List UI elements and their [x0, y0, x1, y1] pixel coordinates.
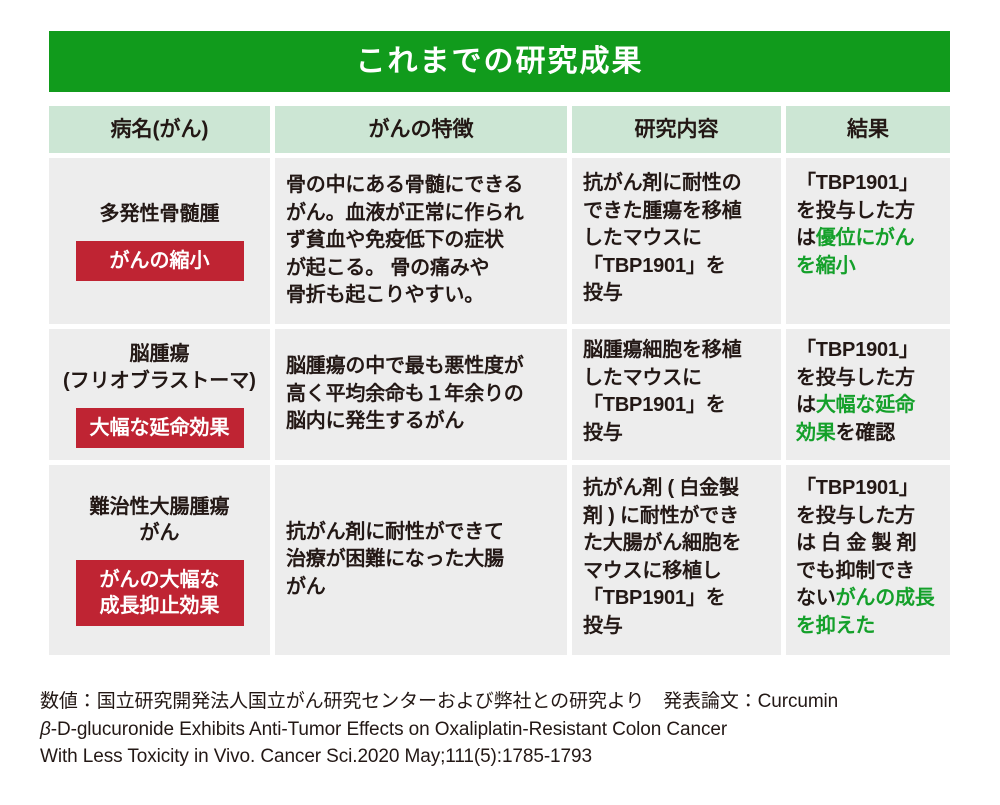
- status-badge: 大幅な延命効果: [76, 408, 244, 448]
- result-highlight: 効果: [796, 422, 836, 444]
- disease-name: 脳腫瘍 (フリオブラストーマ): [63, 341, 256, 394]
- footnote: 数値：国立研究開発法人国立がん研究センターおよび弊社との研究より 発表論文：Cu…: [40, 688, 970, 771]
- footnote-line-1: 数値：国立研究開発法人国立がん研究センターおよび弊社との研究より 発表論文：Cu…: [40, 688, 970, 716]
- column-header-study: 研究内容: [572, 106, 781, 153]
- disease-name: 多発性骨髄腫: [100, 201, 220, 227]
- column-header-feature: がんの特徴: [275, 106, 567, 153]
- result-highlight: を抑えた: [796, 615, 875, 637]
- study-text: 脳腫瘍細胞を移植 したマウスに 「TBP1901」を 投与: [583, 337, 741, 447]
- disease-cell: 脳腫瘍 (フリオブラストーマ) 大幅な延命効果: [49, 329, 270, 460]
- result-highlight: がんの成長: [836, 587, 935, 609]
- page-title-banner: これまでの研究成果: [49, 31, 950, 92]
- feature-text: 脳腫瘍の中で最も悪性度が 高く平均余命も１年余りの 脳内に発生するがん: [286, 353, 524, 436]
- result-text: 「TBP1901」 を投与した方 は優位にがん を縮小: [796, 170, 919, 280]
- result-cell: 「TBP1901」 を投与した方 は大幅な延命 効果を確認: [786, 329, 950, 460]
- study-text: 抗がん剤 ( 白金製 剤 ) に耐性ができ た大腸がん細胞を マウスに移植し 「…: [583, 475, 741, 641]
- status-badge: がんの縮小: [76, 241, 244, 281]
- table-row: 多発性骨髄腫 がんの縮小 骨の中にある骨髄にできる がん。血液が正常に作られ ず…: [49, 158, 950, 324]
- table-row: 難治性大腸腫瘍 がん がんの大幅な 成長抑止効果 抗がん剤に耐性ができて 治療が…: [49, 465, 950, 655]
- feature-cell: 脳腫瘍の中で最も悪性度が 高く平均余命も１年余りの 脳内に発生するがん: [275, 329, 567, 460]
- study-cell: 抗がん剤に耐性の できた腫瘍を移植 したマウスに 「TBP1901」を 投与: [572, 158, 781, 324]
- page-title: これまでの研究成果: [356, 47, 644, 77]
- table-header-row: 病名(がん) がんの特徴 研究内容 結果: [49, 106, 950, 153]
- study-cell: 脳腫瘍細胞を移植 したマウスに 「TBP1901」を 投与: [572, 329, 781, 460]
- slide-page: これまでの研究成果 病名(がん) がんの特徴 研究内容 結果 多発性骨髄腫: [0, 0, 1000, 805]
- table-row: 脳腫瘍 (フリオブラストーマ) 大幅な延命効果 脳腫瘍の中で最も悪性度が 高く平…: [49, 329, 950, 460]
- result-text: 「TBP1901」 を投与した方 は 白 金 製 剤 でも抑制でき ないがんの成…: [796, 475, 935, 641]
- feature-text: 抗がん剤に耐性ができて 治療が困難になった大腸 がん: [286, 519, 504, 602]
- result-highlight: 大幅な延命: [816, 394, 915, 416]
- disease-cell: 難治性大腸腫瘍 がん がんの大幅な 成長抑止効果: [49, 465, 270, 655]
- result-cell: 「TBP1901」 を投与した方 は 白 金 製 剤 でも抑制でき ないがんの成…: [786, 465, 950, 655]
- disease-name: 難治性大腸腫瘍 がん: [90, 494, 230, 547]
- status-badge: がんの大幅な 成長抑止効果: [76, 560, 244, 626]
- footnote-line-2: β-D-glucuronide Exhibits Anti-Tumor Effe…: [40, 716, 970, 744]
- column-header-disease: 病名(がん): [49, 106, 270, 153]
- study-cell: 抗がん剤 ( 白金製 剤 ) に耐性ができ た大腸がん細胞を マウスに移植し 「…: [572, 465, 781, 655]
- result-text: 「TBP1901」 を投与した方 は大幅な延命 効果を確認: [796, 337, 919, 447]
- feature-text: 骨の中にある骨髄にできる がん。血液が正常に作られ ず貧血や免疫低下の症状 が起…: [286, 172, 524, 310]
- feature-cell: 骨の中にある骨髄にできる がん。血液が正常に作られ ず貧血や免疫低下の症状 が起…: [275, 158, 567, 324]
- footnote-line-3: With Less Toxicity in Vivo. Cancer Sci.2…: [40, 743, 970, 771]
- research-results-table: 病名(がん) がんの特徴 研究内容 結果 多発性骨髄腫 がんの縮小: [49, 106, 950, 660]
- beta-symbol: β: [40, 719, 51, 740]
- result-highlight: 優位にがん: [816, 227, 915, 249]
- disease-cell: 多発性骨髄腫 がんの縮小: [49, 158, 270, 324]
- column-header-result: 結果: [786, 106, 950, 153]
- result-highlight: を縮小: [796, 255, 855, 277]
- feature-cell: 抗がん剤に耐性ができて 治療が困難になった大腸 がん: [275, 465, 567, 655]
- result-cell: 「TBP1901」 を投与した方 は優位にがん を縮小: [786, 158, 950, 324]
- study-text: 抗がん剤に耐性の できた腫瘍を移植 したマウスに 「TBP1901」を 投与: [583, 170, 741, 308]
